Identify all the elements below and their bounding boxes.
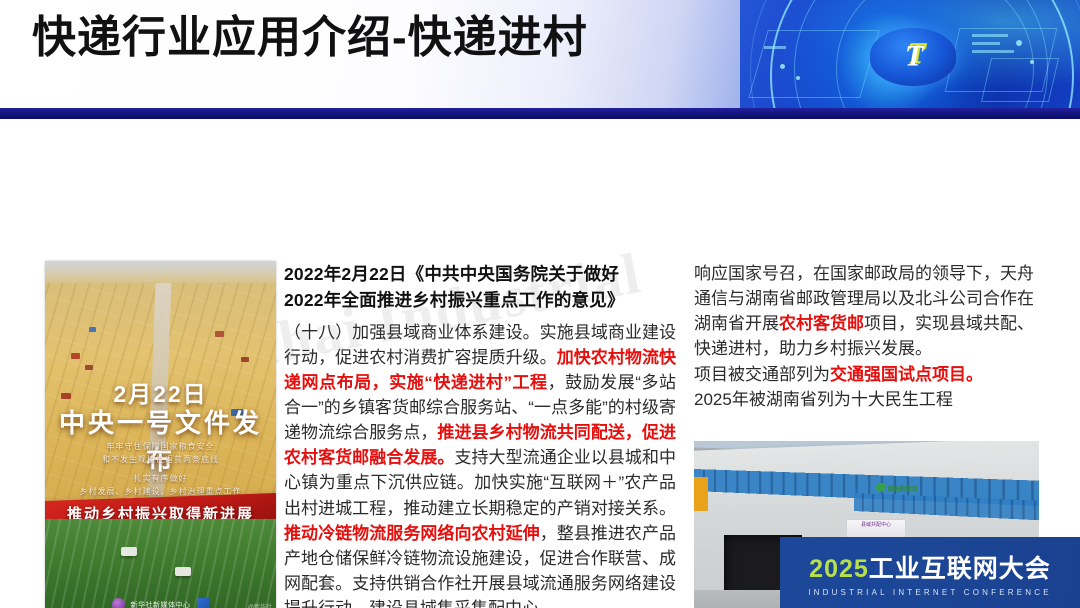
decorative-bar bbox=[972, 50, 1014, 53]
poster-subline-2: 和不发生规模性返贫两条底线 bbox=[45, 454, 276, 467]
decorative-bar bbox=[972, 42, 1000, 45]
poster-house bbox=[241, 357, 249, 362]
document-heading-line-1: 2022年2月22日《中共中央国务院关于做好 bbox=[284, 261, 676, 287]
project-description-text: 响应国家号召，在国家邮政局的领导下，天舟通信与湖南省邮政管理局以及北斗公司合作在… bbox=[694, 261, 1034, 412]
decorative-bar bbox=[764, 46, 786, 49]
slide-header: T 快递行业应用介绍-快递进村 bbox=[0, 0, 1080, 108]
poster-house bbox=[71, 353, 80, 359]
conference-logo-banner: 2025工业互联网大会 INDUSTRIAL INTERNET CONFEREN… bbox=[780, 537, 1080, 608]
photo-sign-green: 邮乐购物流 bbox=[858, 483, 936, 499]
poster-house bbox=[89, 327, 96, 332]
decorative-dot bbox=[1016, 40, 1022, 46]
project-description-segment-1-highlighted: 农村客货邮 bbox=[779, 314, 864, 333]
photo-sign-yellow bbox=[694, 477, 708, 511]
document-body-segment-5-highlighted: 推动冷链物流服务网络向农村延伸 bbox=[284, 524, 540, 543]
poster-subline-group-1: 牢牢守住保障国家粮食安全 和不发生规模性返贫两条底线 bbox=[45, 441, 276, 467]
decorative-dot bbox=[1030, 60, 1034, 64]
project-description-segment-4-highlighted: 交通强国试点项目。 bbox=[830, 365, 983, 384]
poster-house bbox=[85, 365, 93, 370]
poster-house bbox=[215, 331, 224, 337]
document-heading: 2022年2月22日《中共中央国务院关于做好 2022年全面推进乡村振兴重点工作… bbox=[284, 261, 676, 314]
conference-name-en: INDUSTRIAL INTERNET CONFERENCE bbox=[808, 588, 1052, 597]
poster-source-label: 新华社新媒体中心 bbox=[131, 600, 191, 608]
conference-year: 2025 bbox=[809, 555, 869, 583]
poster-green-field bbox=[45, 519, 276, 608]
poster-badge-icon bbox=[112, 598, 125, 608]
project-description-segment-3: 项目被交通部列为 bbox=[694, 365, 830, 384]
page-title: 快递行业应用介绍-快递进村 bbox=[32, 14, 588, 62]
poster-harvester bbox=[121, 547, 137, 556]
no1-document-poster-image: 2月22日 中央一号文件发布 牢牢守住保障国家粮食安全 和不发生规模性返贫两条底… bbox=[45, 261, 276, 608]
decorative-bar bbox=[972, 34, 1008, 37]
t-logo-glyph: T bbox=[905, 39, 921, 73]
document-heading-line-2: 2022年全面推进乡村振兴重点工作的意见》 bbox=[284, 287, 676, 313]
right-text-column: 响应国家号召，在国家邮政局的领导下，天舟通信与湖南省邮政管理局以及北斗公司合作在… bbox=[694, 261, 1034, 412]
header-divider bbox=[0, 108, 1080, 119]
middle-text-column: 2022年2月22日《中共中央国务院关于做好 2022年全面推进乡村振兴重点工作… bbox=[284, 261, 676, 608]
slide-body: Zhuhai Industrial 2月22日 中央一号文件发布 牢牢守住保障国… bbox=[0, 119, 1080, 608]
presentation-slide: T 快递行业应用介绍-快递进村 Zhuhai Industrial 2月22日 … bbox=[0, 0, 1080, 608]
poster-subline-1: 牢牢守住保障国家粮食安全 bbox=[45, 441, 276, 454]
decorative-grid bbox=[748, 30, 879, 98]
conference-name-cn: 工业互联网大会 bbox=[869, 555, 1051, 583]
poster-footer: 新华社新媒体中心 bbox=[45, 598, 276, 608]
document-body-text: （十八）加强县域商业体系建设。实施县域商业建设行动，促进农村消费扩容提质升级。加… bbox=[284, 320, 676, 608]
poster-subline-3: 扎实有序做好 bbox=[45, 473, 276, 486]
poster-badge2-icon bbox=[197, 598, 210, 608]
tianzhou-t-logo: T bbox=[870, 28, 956, 86]
decorative-dot bbox=[780, 64, 785, 69]
poster-harvester bbox=[175, 567, 191, 576]
project-description-segment-5: 2025年被湖南省列为十大民生工程 bbox=[694, 390, 953, 409]
header-tech-graphic: T bbox=[740, 0, 1080, 108]
conference-logo-main: 2025工业互联网大会 bbox=[809, 549, 1051, 585]
poster-weibo-label: @新华社 bbox=[248, 602, 272, 608]
decorative-grid bbox=[981, 58, 1059, 102]
photo-sign-purple: 县域共配中心 bbox=[846, 519, 906, 538]
leaf-icon bbox=[876, 483, 885, 492]
decorative-dot bbox=[796, 76, 800, 80]
photo-sign-green-label: 邮乐购物流 bbox=[887, 487, 917, 493]
